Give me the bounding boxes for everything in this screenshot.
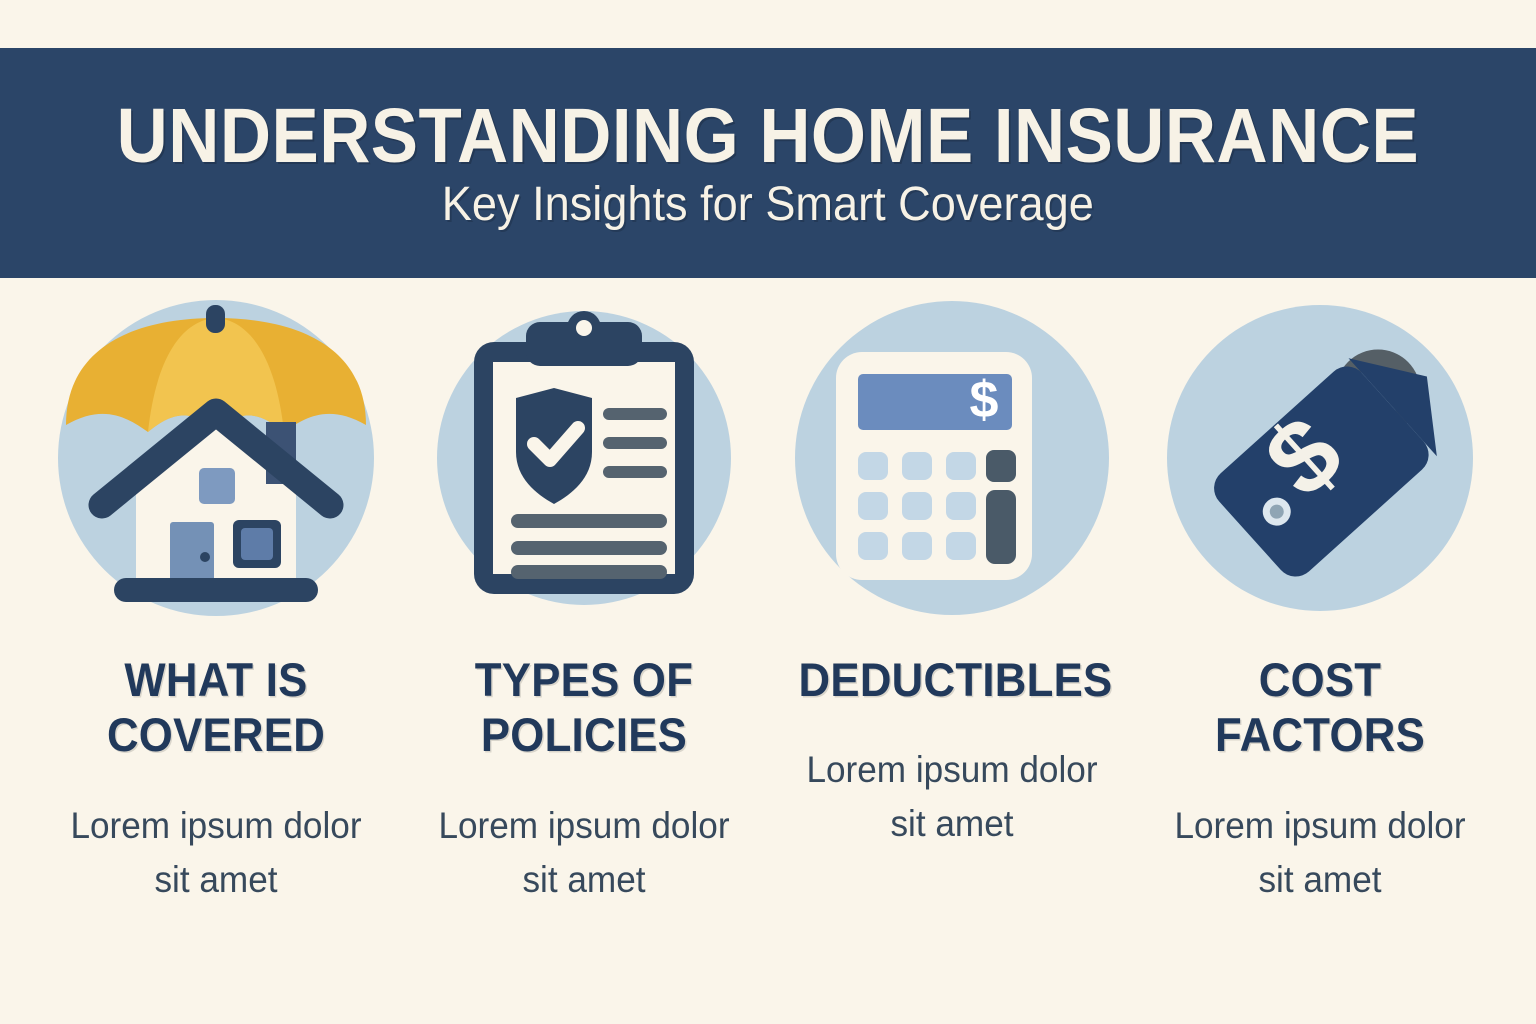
feature-body: Lorem ipsum dolor sit amet bbox=[1163, 799, 1477, 906]
calculator-dollar-symbol: $ bbox=[970, 371, 999, 429]
calculator-icon: $ bbox=[794, 300, 1110, 616]
feature-heading: WHAT IS COVERED bbox=[63, 652, 370, 763]
page-subtitle: Key Insights for Smart Coverage bbox=[442, 181, 1094, 229]
feature-column-what-is-covered: WHAT IS COVERED Lorem ipsum dolor sit am… bbox=[46, 300, 386, 906]
umbrella-house-icon bbox=[58, 300, 374, 616]
feature-body: Lorem ipsum dolor sit amet bbox=[59, 799, 373, 906]
feature-body: Lorem ipsum dolor sit amet bbox=[427, 799, 741, 906]
header-banner: UNDERSTANDING HOME INSURANCE Key Insight… bbox=[0, 48, 1536, 278]
clipboard-shield-icon bbox=[426, 300, 742, 616]
feature-column-types-of-policies: TYPES OF POLICIES Lorem ipsum dolor sit … bbox=[414, 300, 754, 906]
feature-columns: WHAT IS COVERED Lorem ipsum dolor sit am… bbox=[0, 300, 1536, 1000]
feature-heading: TYPES OF POLICIES bbox=[431, 652, 738, 763]
feature-column-deductibles: $ DEDUCTIBLES bbox=[782, 300, 1122, 851]
feature-body: Lorem ipsum dolor sit amet bbox=[795, 743, 1109, 850]
feature-heading: COST FACTORS bbox=[1167, 652, 1474, 763]
price-tag-icon: $ bbox=[1162, 300, 1478, 616]
page-title: UNDERSTANDING HOME INSURANCE bbox=[117, 98, 1419, 175]
feature-column-cost-factors: $ COST FACTORS Lorem ipsum dolor sit ame… bbox=[1150, 300, 1490, 906]
infographic-page: UNDERSTANDING HOME INSURANCE Key Insight… bbox=[0, 0, 1536, 1024]
feature-heading: DEDUCTIBLES bbox=[799, 652, 1106, 707]
